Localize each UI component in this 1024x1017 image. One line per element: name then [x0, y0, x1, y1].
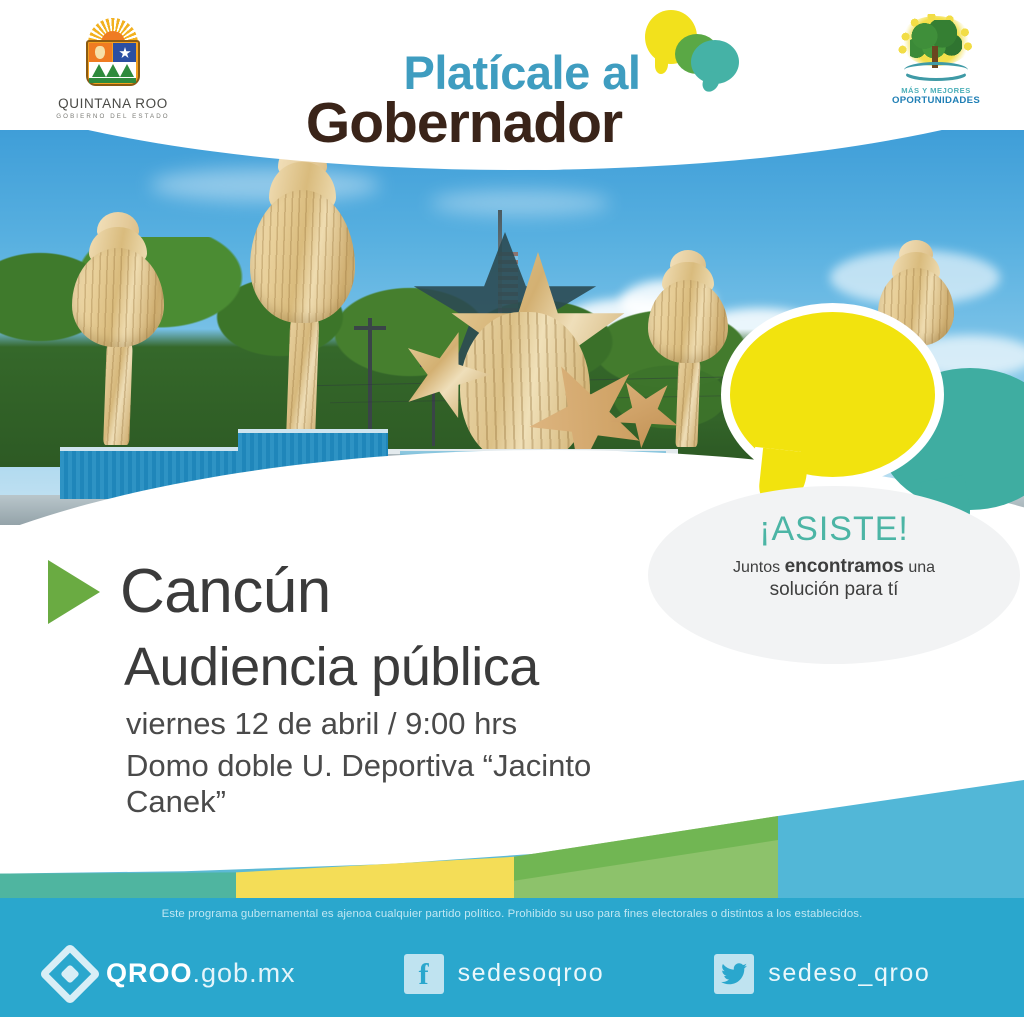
mini-teal-bubble-tail	[701, 71, 721, 94]
asiste-sub-line2: solución para tí	[648, 578, 1020, 601]
disclaimer-bar: Este programa gubernamental es ajenoa cu…	[0, 898, 1024, 930]
qroo-diamond-icon	[39, 942, 101, 1004]
utility-pole-arm	[354, 326, 386, 330]
asiste-sub-pre: Juntos	[733, 559, 785, 576]
twitter-handle: sedeso_qroo	[768, 959, 930, 988]
cloud	[430, 190, 610, 216]
asiste-title: ¡ASISTE!	[648, 512, 1020, 548]
conch-sculpture	[72, 248, 164, 438]
title-line-2: Gobernador	[0, 96, 1024, 150]
asiste-subtitle: Juntos encontramos una solución para tí	[648, 555, 1020, 601]
asiste-sub-post: una	[904, 559, 935, 576]
starfish	[596, 363, 695, 462]
twitter-link[interactable]: sedeso_qroo	[714, 954, 930, 994]
asiste-callout: ¡ASISTE! Juntos encontramos una solución…	[648, 486, 1020, 664]
asiste-sub-bold: encontramos	[785, 556, 904, 577]
twitter-icon	[714, 954, 754, 994]
website-brand: QROO	[106, 958, 193, 988]
header: QUINTANA ROO GOBIERNO DEL ESTADO Platíca…	[0, 0, 1024, 150]
facebook-handle: sedesoqroo	[458, 959, 605, 988]
event-city: Cancún	[120, 561, 331, 623]
facebook-icon: f	[404, 954, 444, 994]
oportunidades-logo: MÁS Y MEJORES OPORTUNIDADES	[876, 14, 996, 106]
title-line-1: Platícale al	[0, 50, 1024, 96]
event-type: Audiencia pública	[124, 636, 688, 698]
poster-title: Platícale al Gobernador	[0, 50, 1024, 150]
event-place: Domo doble U. Deportiva “Jacinto Canek”	[126, 748, 688, 820]
conch-sculpture	[250, 190, 355, 445]
website-label: QROO.gob.mx	[106, 958, 296, 989]
event-details: Cancún Audiencia pública viernes 12 de a…	[48, 560, 688, 820]
starfish-cluster	[400, 242, 690, 472]
play-triangle-icon	[48, 560, 100, 624]
website-link[interactable]: QROO.gob.mx	[48, 952, 296, 996]
band-segment-blue	[778, 780, 1024, 900]
footer: QROO.gob.mx f sedesoqroo sedeso_qroo	[0, 930, 1024, 1017]
city-row: Cancún	[48, 560, 688, 624]
event-date: viernes 12 de abril / 9:00 hrs	[126, 706, 688, 742]
facebook-link[interactable]: f sedesoqroo	[404, 954, 605, 994]
poster: QUINTANA ROO GOBIERNO DEL ESTADO Platíca…	[0, 0, 1024, 1017]
oportunidades-line-1: MÁS Y MEJORES	[876, 86, 996, 95]
disclaimer-text: Este programa gubernamental es ajenoa cu…	[162, 908, 863, 920]
oportunidades-line-2: OPORTUNIDADES	[876, 95, 996, 106]
yellow-speech-bubble	[730, 312, 935, 477]
website-domain: .gob.mx	[193, 958, 296, 988]
mini-yellow-bubble-tail	[655, 56, 668, 74]
title-speech-bubbles-icon	[645, 10, 745, 92]
tree-icon	[888, 14, 984, 86]
utility-pole	[368, 318, 372, 438]
